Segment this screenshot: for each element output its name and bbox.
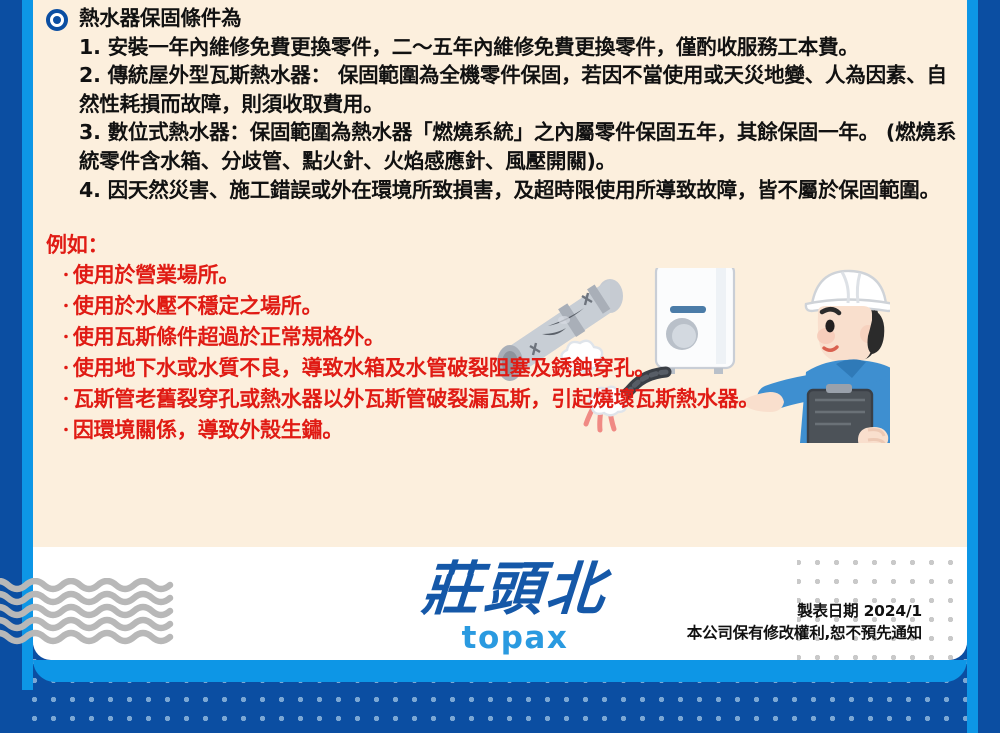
terms-item-4: 4. 因天然災害、施工錯誤或外在環境所致損害，及超時限使用所導致故障，皆不屬於保… xyxy=(79,176,962,205)
example-item: ・使用於營業場所。 xyxy=(46,260,962,291)
terms-list: 熱水器保固條件為 1. 安裝一年內維修免費更換零件，二～五年內維修免費更換零件，… xyxy=(79,4,962,204)
example-bullet-icon: ・ xyxy=(59,392,73,408)
example-item-label: 使用瓦斯條件超過於正常規格外。 xyxy=(73,325,385,349)
example-item: ・使用於水壓不穩定之場所。 xyxy=(46,291,962,322)
footer-note: 製表日期 2024/1 本公司保有修改權利,恕不預先通知 xyxy=(687,600,922,644)
revision-disclaimer: 本公司保有修改權利,恕不預先通知 xyxy=(687,622,922,644)
warranty-text-block: 熱水器保固條件為 1. 安裝一年內維修免費更換零件，二～五年內維修免費更換零件，… xyxy=(46,4,962,446)
example-item: ・因環境關係，導致外殼生鏽。 xyxy=(46,415,962,446)
examples-label: 例如： xyxy=(46,230,962,260)
example-bullet-icon: ・ xyxy=(59,299,73,315)
examples-list: 例如： ・使用於營業場所。 ・使用於水壓不穩定之場所。 ・使用瓦斯條件超過於正常… xyxy=(46,230,962,446)
terms-heading: 熱水器保固條件為 xyxy=(79,4,962,33)
example-item: ・使用瓦斯條件超過於正常規格外。 xyxy=(46,322,962,353)
brand-logo: 莊頭北 topax xyxy=(400,557,630,662)
logo-cjk-wordmark: 莊頭北 xyxy=(398,557,632,621)
example-bullet-icon: ・ xyxy=(59,330,73,346)
terms-item-2: 2. 傳統屋外型瓦斯熱水器： 保固範圍為全機零件保固，若因不當使用或天災地變、人… xyxy=(79,61,962,118)
bullseye-icon xyxy=(46,9,68,31)
wave-decoration-icon xyxy=(0,578,200,648)
terms-item-1: 1. 安裝一年內維修免費更換零件，二～五年內維修免費更換零件，僅酌收服務工本費。 xyxy=(79,33,962,62)
example-bullet-icon: ・ xyxy=(59,268,73,284)
example-item-label: 瓦斯管老舊裂穿孔或熱水器以外瓦斯管破裂漏瓦斯，引起燒壞瓦斯熱水器。 xyxy=(73,387,759,411)
example-item-label: 因環境關係，導致外殼生鏽。 xyxy=(73,418,343,442)
example-item: ・瓦斯管老舊裂穿孔或熱水器以外瓦斯管破裂漏瓦斯，引起燒壞瓦斯熱水器。 xyxy=(46,384,962,415)
warranty-terms-poster: 熱水器保固條件為 1. 安裝一年內維修免費更換零件，二～五年內維修免費更換零件，… xyxy=(0,0,1000,733)
logo-latin-wordmark: topax xyxy=(400,621,630,655)
right-light-blue-stripe xyxy=(967,0,978,733)
example-item-label: 使用於水壓不穩定之場所。 xyxy=(73,294,323,318)
terms-item-3: 3. 數位式熱水器：保固範圍為熱水器「燃燒系統」之內屬零件保固五年，其餘保固一年… xyxy=(79,118,962,175)
footer-blue-cap xyxy=(33,660,967,682)
right-dark-blue-bar xyxy=(978,0,1000,733)
example-bullet-icon: ・ xyxy=(59,361,73,377)
publish-date: 製表日期 2024/1 xyxy=(687,600,922,622)
example-item-label: 使用地下水或水質不良，導致水箱及水管破裂阻塞及銹蝕穿孔。 xyxy=(73,356,655,380)
example-bullet-icon: ・ xyxy=(59,423,73,439)
example-item: ・使用地下水或水質不良，導致水箱及水管破裂阻塞及銹蝕穿孔。 xyxy=(46,353,962,384)
example-item-label: 使用於營業場所。 xyxy=(73,263,239,287)
